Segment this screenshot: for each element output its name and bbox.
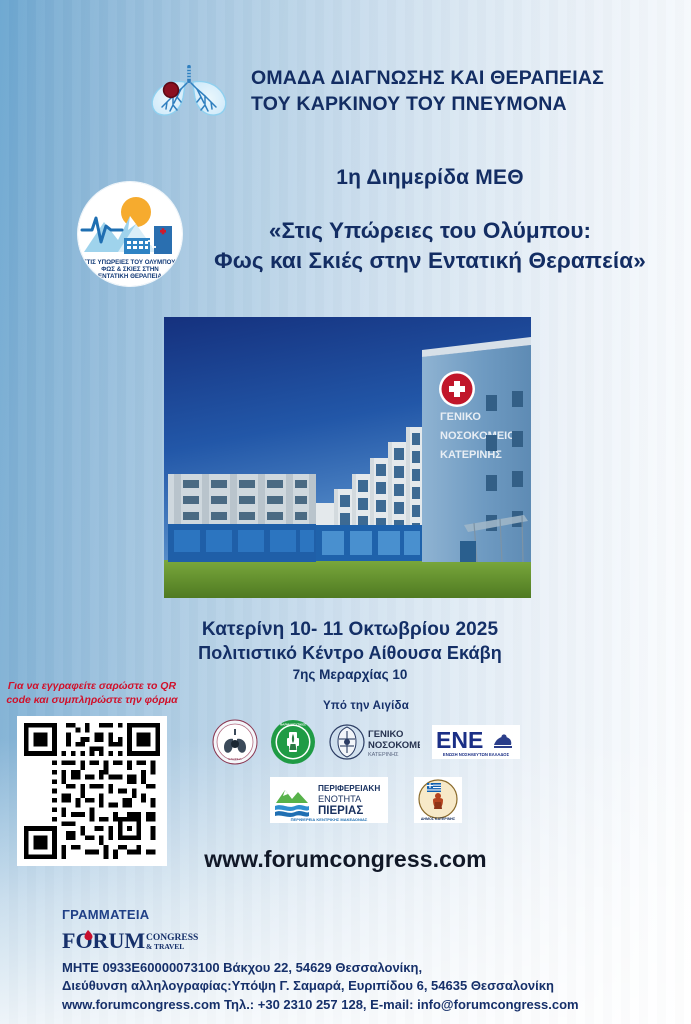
svg-text:ΕΝΩΣΗ ΝΟΣΗΛΕΥΤΩΝ ΕΛΛΑΔΟΣ: ΕΝΩΣΗ ΝΟΣΗΛΕΥΤΩΝ ΕΛΛΑΔΟΣ	[443, 752, 510, 757]
footer-block: ΓΡΑΜΜΑΤΕΙΑ FORUM CONGRESS & TRAVEL ΜΗΤΕ …	[62, 907, 682, 1014]
svg-text:ΣΤΙΣ ΥΠΩΡΕΙΕΣ ΤΟΥ ΟΛΥΜΠΟΥ:: ΣΤΙΣ ΥΠΩΡΕΙΕΣ ΤΟΥ ΟΛΥΜΠΟΥ:	[83, 259, 177, 266]
svg-text:ΔΗΜΟΣ ΚΑΤΕΡΙΝΗΣ: ΔΗΜΟΣ ΚΑΤΕΡΙΝΗΣ	[421, 817, 456, 821]
poster-header: ΟΜΑΔΑ ΔΙΑΓΝΩΣΗΣ ΚΑΙ ΘΕΡΑΠΕΙΑΣ ΤΟΥ ΚΑΡΚΙΝ…	[0, 58, 691, 125]
sponsor-logo-pieria: ΠΕΡΙΦΕΡΕΙΑΚΗ ΕΝΟΤΗΤΑ ΠΙΕΡΙΑΣ ΠΕΡΙΦΕΡΕΙΑ …	[270, 777, 388, 823]
event-subtitle: «Στις Υπώρειες του Ολύμπου: Φως και Σκιέ…	[190, 216, 670, 276]
auspices-block: Υπό την Αιγίδα ΕΤΑΙΡΕΙΑ	[196, 700, 536, 823]
svg-text:ΦΩΣ & ΣΚΙΕΣ ΣΤΗΝ: ΦΩΣ & ΣΚΙΕΣ ΣΤΗΝ	[101, 266, 159, 273]
sponsor-logo-pharmacists: ΦΑΡΜΑΚΕΥΤΙΚΟΣ	[270, 719, 316, 765]
sponsor-logo-katerini-municipality: ΔΗΜΟΣ ΚΑΤΕΡΙΝΗΣ	[414, 777, 462, 823]
svg-text:ΕΝΟΤΗΤΑ: ΕΝΟΤΗΤΑ	[318, 794, 362, 804]
organization-title: ΟΜΑΔΑ ΔΙΑΓΝΩΣΗΣ ΚΑΙ ΘΕΡΑΠΕΙΑΣ ΤΟΥ ΚΑΡΚΙΝ…	[251, 66, 604, 117]
qr-registration-block: Για να εγγραφείτε σαρώστε το QR code και…	[6, 679, 178, 866]
svg-text:ΓΕΝΙΚΟ: ΓΕΝΙΚΟ	[440, 411, 481, 423]
svg-text:ΚΑΤΕΡΙΝΗΣ: ΚΑΤΕΡΙΝΗΣ	[368, 752, 399, 758]
lungs-with-tumor-icon	[143, 58, 235, 125]
event-logo: ΣΤΙΣ ΥΠΩΡΕΙΕΣ ΤΟΥ ΟΛΥΜΠΟΥ: ΦΩΣ & ΣΚΙΕΣ Σ…	[78, 182, 182, 286]
sponsor-logo-ene: ENE ΕΝΩΣΗ ΝΟΣΗΛΕΥΤΩΝ ΕΛΛΑΔΟΣ	[432, 725, 520, 759]
sponsor-logo-pulmonary-society: ΕΤΑΙΡΕΙΑ	[212, 719, 258, 765]
event-place: Πολιτιστικό Κέντρο Αίθουσα Εκάβη	[150, 643, 550, 664]
svg-text:ENE: ENE	[436, 727, 483, 753]
venue-block: Κατερίνη 10- 11 Οκτωβρίου 2025 Πολιτιστι…	[150, 619, 550, 682]
event-address: 7ης Μεραρχίας 10	[150, 667, 550, 682]
svg-text:FORUM: FORUM	[62, 928, 145, 953]
sponsor-logo-general-hospital: ΓΕΝΙΚΟ ΝΟΣΟΚΟΜΕΙΟ ΚΑΤΕΡΙΝΗΣ	[328, 721, 420, 763]
sponsor-logo-row-1: ΕΤΑΙΡΕΙΑ ΦΑΡΜΑΚΕΥΤΙΚΟΣ	[196, 719, 536, 765]
svg-text:ΕΝΤΑΤΙΚΗ ΘΕΡΑΠΕΙΑ: ΕΝΤΑΤΙΚΗ ΘΕΡΑΠΕΙΑ	[98, 273, 162, 280]
website-url[interactable]: www.forumcongress.com	[0, 846, 691, 873]
svg-text:ΓΕΝΙΚΟ: ΓΕΝΙΚΟ	[368, 729, 403, 740]
poster-canvas: ΟΜΑΔΑ ΔΙΑΓΝΩΣΗΣ ΚΑΙ ΘΕΡΑΠΕΙΑΣ ΤΟΥ ΚΑΡΚΙΝ…	[0, 0, 691, 1024]
svg-text:& TRAVEL: & TRAVEL	[146, 942, 184, 951]
sponsor-logo-row-2: ΠΕΡΙΦΕΡΕΙΑΚΗ ΕΝΟΤΗΤΑ ΠΙΕΡΙΑΣ ΠΕΡΙΦΕΡΕΙΑ …	[196, 777, 536, 823]
forum-congress-logo: FORUM CONGRESS & TRAVEL	[62, 928, 682, 954]
hospital-building-photo: ΓΕΝΙΚΟ ΝΟΣΟΚΟΜΕΙΟ ΚΑΤΕΡΙΝΗΣ	[164, 317, 531, 598]
qr-caption: Για να εγγραφείτε σαρώστε το QR code και…	[6, 679, 178, 707]
qr-code-icon[interactable]	[17, 716, 167, 866]
auspices-title: Υπό την Αιγίδα	[196, 700, 536, 712]
svg-text:ΕΤΑΙΡΕΙΑ: ΕΤΑΙΡΕΙΑ	[228, 757, 241, 761]
svg-text:ΝΟΣΟΚΟΜΕΙΟ: ΝΟΣΟΚΟΜΕΙΟ	[440, 430, 516, 442]
svg-text:ΠΕΡΙΦΕΡΕΙΑΚΗ: ΠΕΡΙΦΕΡΕΙΑΚΗ	[318, 784, 380, 793]
svg-text:ΝΟΣΟΚΟΜΕΙΟ: ΝΟΣΟΚΟΜΕΙΟ	[368, 740, 420, 751]
svg-text:ΠΙΕΡΙΑΣ: ΠΙΕΡΙΑΣ	[318, 805, 363, 817]
event-date: Κατερίνη 10- 11 Οκτωβρίου 2025	[150, 619, 550, 641]
svg-text:ΠΕΡΙΦΕΡΕΙΑ ΚΕΝΤΡΙΚΗΣ ΜΑΚΕΔΟΝΙΑ: ΠΕΡΙΦΕΡΕΙΑ ΚΕΝΤΡΙΚΗΣ ΜΑΚΕΔΟΝΙΑΣ	[291, 817, 368, 822]
svg-text:ΦΑΡΜΑΚΕΥΤΙΚΟΣ: ΦΑΡΜΑΚΕΥΤΙΚΟΣ	[280, 723, 306, 727]
title-block: 1η Διημερίδα ΜΕΘ «Στις Υπώρειες του Ολύμ…	[190, 166, 670, 276]
event-title: 1η Διημερίδα ΜΕΘ	[190, 166, 670, 190]
secretariat-label: ΓΡΑΜΜΑΤΕΙΑ	[62, 907, 682, 922]
contact-details: ΜΗΤΕ 0933Ε60000073100 Βάκχου 22, 54629 Θ…	[62, 959, 682, 1014]
